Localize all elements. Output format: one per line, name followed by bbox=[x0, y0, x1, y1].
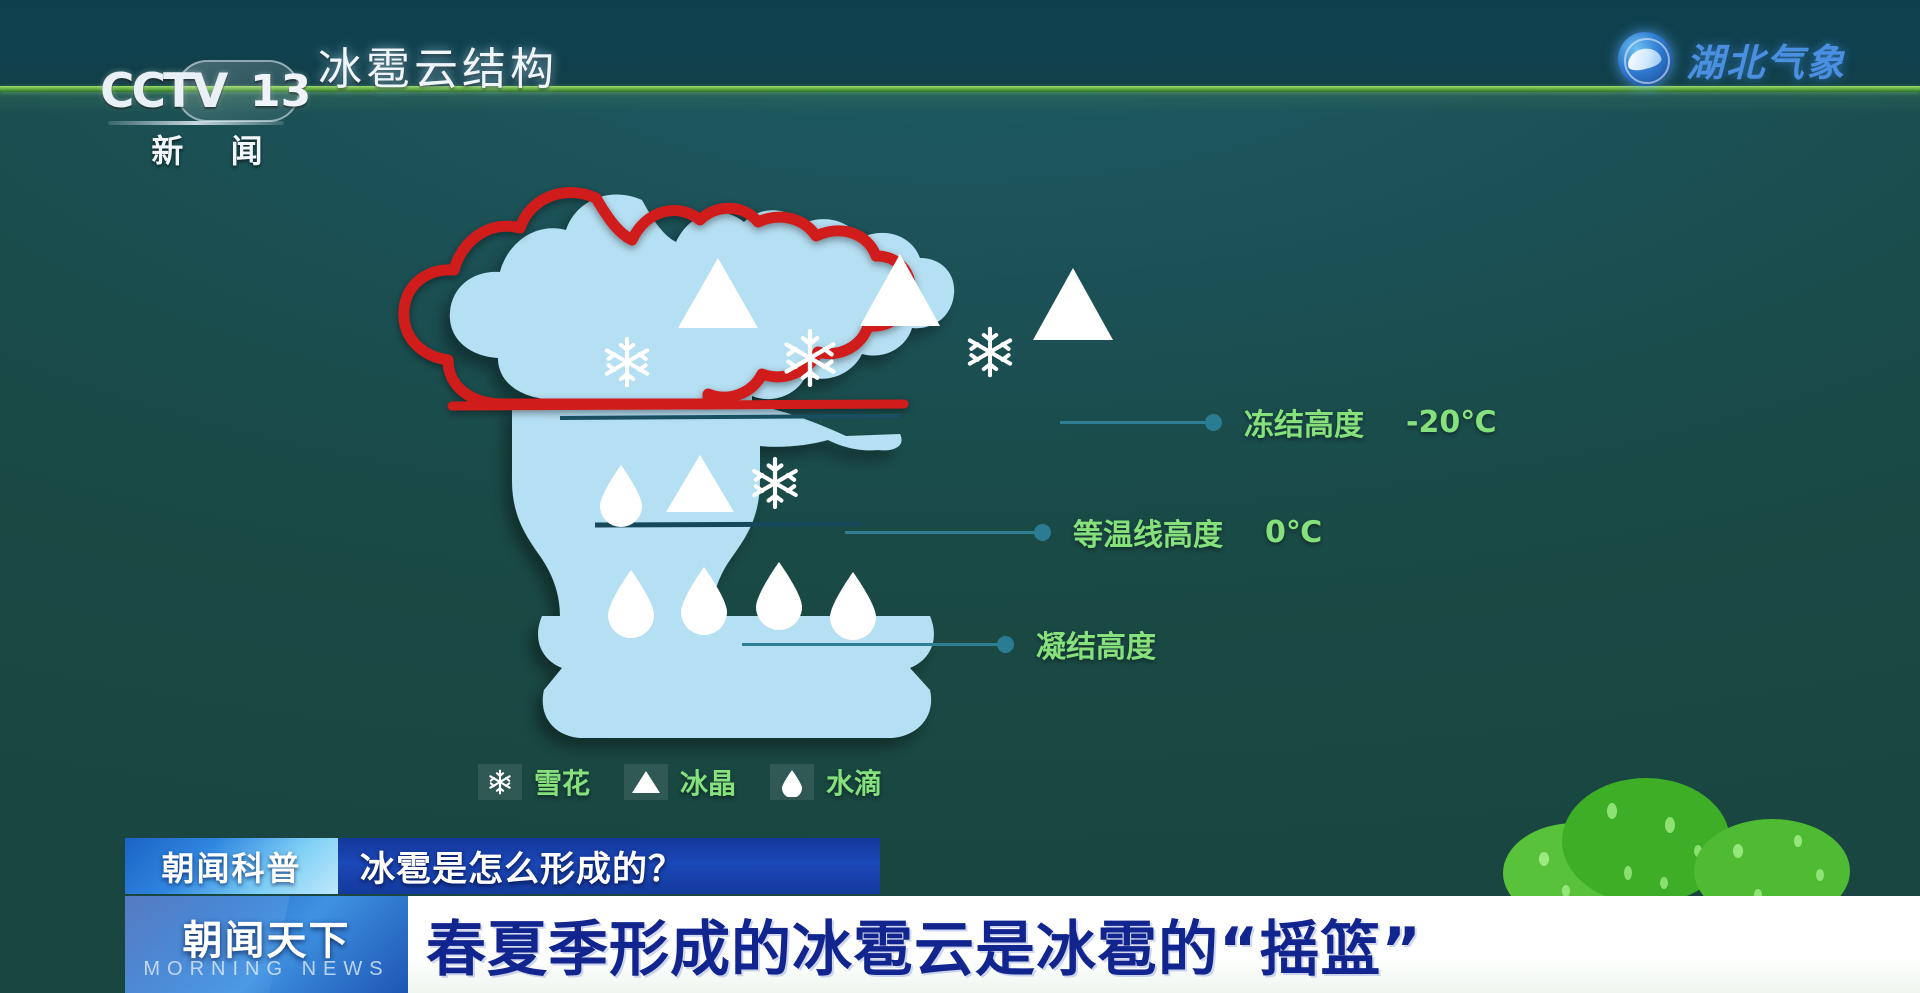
callout-label: 凝结高度 bbox=[1036, 622, 1156, 666]
leader-dot bbox=[1034, 524, 1051, 541]
cctv-underline bbox=[108, 121, 284, 125]
broadcast-screen: 冰雹云结构 CCTV 13 新 闻 湖北气象 bbox=[0, 0, 1920, 993]
diagram-legend: 雪花 冰晶 水滴 bbox=[478, 762, 882, 802]
callout-condensation-height: 凝结高度 bbox=[742, 622, 1156, 666]
cctv-subtitle: 新 闻 bbox=[136, 126, 296, 172]
ice-crystal-triangle-icon bbox=[860, 254, 940, 326]
segment-tag-label: 朝闻科普 bbox=[162, 842, 302, 890]
headline-banner: 朝闻天下 MORNING NEWS 春夏季形成的冰雹云是冰雹的“摇篮” bbox=[125, 896, 1920, 993]
legend-item: 雪花 bbox=[478, 762, 590, 802]
segment-question-box: 冰雹是怎么形成的？ bbox=[338, 838, 880, 894]
segment-banner: 朝闻科普 冰雹是怎么形成的？ bbox=[125, 838, 880, 894]
cctv-wordmark: CCTV bbox=[100, 64, 225, 119]
cctv-channel-number: 13 bbox=[250, 66, 311, 117]
snowflake-icon bbox=[787, 331, 834, 385]
callout-label: 等温线高度 bbox=[1073, 510, 1223, 554]
ice-crystal-triangle-icon bbox=[624, 764, 668, 800]
isotherm-line bbox=[595, 524, 862, 525]
leader-dot bbox=[1205, 414, 1222, 431]
snowflake-icon bbox=[607, 339, 647, 386]
callout-freezing-height: 冻结高度 -20℃ bbox=[1060, 400, 1497, 444]
snowflake-icon bbox=[478, 764, 522, 800]
segment-question-label: 冰雹是怎么形成的？ bbox=[360, 841, 684, 892]
legend-item: 冰晶 bbox=[624, 762, 736, 802]
hubei-weather-label: 湖北气象 bbox=[1686, 32, 1846, 87]
water-droplet-icon bbox=[608, 570, 654, 638]
ice-crystal-triangle-icon bbox=[678, 258, 758, 328]
legend-label: 冰晶 bbox=[680, 762, 736, 802]
callout-value: 0℃ bbox=[1265, 515, 1322, 550]
upper-layer-symbols bbox=[607, 254, 1113, 385]
water-droplet-icon bbox=[770, 764, 814, 800]
legend-label: 水滴 bbox=[826, 762, 882, 802]
snowflake-icon bbox=[970, 329, 1010, 376]
program-logo-box: 朝闻天下 MORNING NEWS bbox=[125, 896, 408, 993]
segment-tag-box: 朝闻科普 bbox=[125, 838, 338, 894]
water-droplet-icon bbox=[600, 465, 642, 527]
headline-text: 春夏季形成的冰雹云是冰雹的“摇篮” bbox=[426, 901, 1422, 988]
leader-line bbox=[742, 643, 1000, 646]
legend-label: 雪花 bbox=[534, 762, 590, 802]
headline-box: 春夏季形成的冰雹云是冰雹的“摇篮” bbox=[408, 896, 1920, 993]
weather-bird-icon bbox=[1618, 32, 1672, 86]
mixed-layer-symbols bbox=[600, 455, 796, 527]
legend-item: 水滴 bbox=[770, 762, 882, 802]
callout-value: -20℃ bbox=[1406, 405, 1497, 440]
callout-isotherm-height: 等温线高度 0℃ bbox=[845, 510, 1322, 554]
program-name-en: MORNING NEWS bbox=[125, 958, 408, 981]
freezing-level-outline bbox=[404, 193, 910, 406]
leader-line bbox=[1060, 421, 1208, 424]
cctv13-logo: CCTV 13 新 闻 bbox=[100, 60, 310, 165]
ice-crystal-triangle-icon bbox=[666, 455, 734, 512]
ice-crystal-triangle-icon bbox=[1033, 268, 1113, 340]
snowflake-icon bbox=[754, 459, 796, 507]
callout-label: 冻结高度 bbox=[1244, 400, 1364, 444]
water-droplet-icon bbox=[681, 567, 727, 635]
leader-line bbox=[845, 531, 1037, 534]
hubei-weather-logo: 湖北气象 bbox=[1618, 28, 1846, 90]
water-droplet-icon bbox=[756, 562, 802, 630]
page-title: 冰雹云结构 bbox=[318, 33, 558, 97]
leader-dot bbox=[997, 636, 1014, 653]
freezing-line bbox=[560, 416, 900, 418]
